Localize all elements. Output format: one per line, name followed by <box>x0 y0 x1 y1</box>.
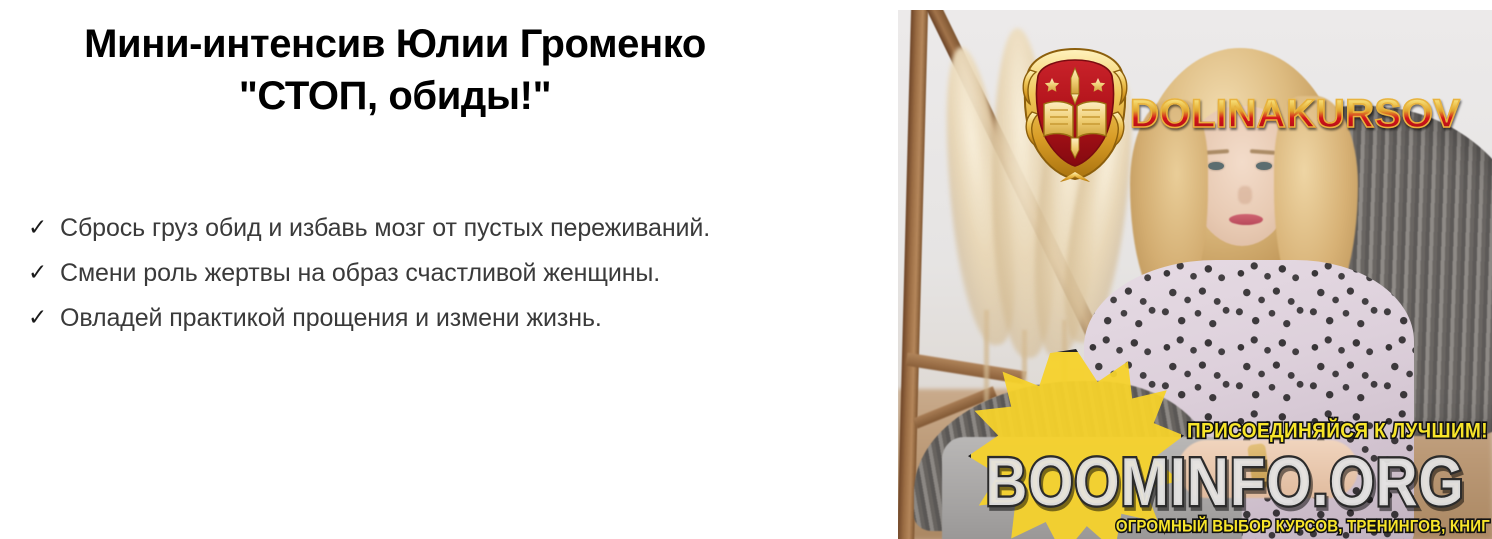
lips <box>1229 214 1263 225</box>
benefit-text: Сбрось груз обид и избавь мозг от пустых… <box>60 207 728 250</box>
title-line-1: Мини-интенсив Юлии Громенко <box>0 18 790 70</box>
check-icon: ✓ <box>28 207 60 250</box>
eye-left <box>1208 162 1224 170</box>
benefits-list: ✓ Сбрось груз обид и избавь мозг от пуст… <box>28 207 728 342</box>
page-title: Мини-интенсив Юлии Громенко "СТОП, обиды… <box>0 18 790 122</box>
benefit-text: Овладей практикой прощения и измени жизн… <box>60 297 728 340</box>
title-line-2: "СТОП, обиды!" <box>0 70 790 122</box>
hero-photo: DOLINAKURSOV ПРИСОЕДИНЯЙСЯ К ЛУЧШИМ! BOO… <box>898 10 1492 539</box>
benefit-text: Смени роль жертвы на образ счастливой же… <box>60 252 728 295</box>
nose <box>1238 186 1252 204</box>
photo-column: DOLINAKURSOV ПРИСОЕДИНЯЙСЯ К ЛУЧШИМ! BOO… <box>898 0 1492 539</box>
check-icon: ✓ <box>28 297 60 340</box>
check-icon: ✓ <box>28 252 60 295</box>
eye-right <box>1256 162 1272 170</box>
list-item: ✓ Овладей практикой прощения и измени жи… <box>28 297 728 340</box>
promo-banner: Мини-интенсив Юлии Громенко "СТОП, обиды… <box>0 0 1492 539</box>
text-column: Мини-интенсив Юлии Громенко "СТОП, обиды… <box>0 0 898 539</box>
list-item: ✓ Сбрось груз обид и избавь мозг от пуст… <box>28 207 728 250</box>
list-item: ✓ Смени роль жертвы на образ счастливой … <box>28 252 728 295</box>
